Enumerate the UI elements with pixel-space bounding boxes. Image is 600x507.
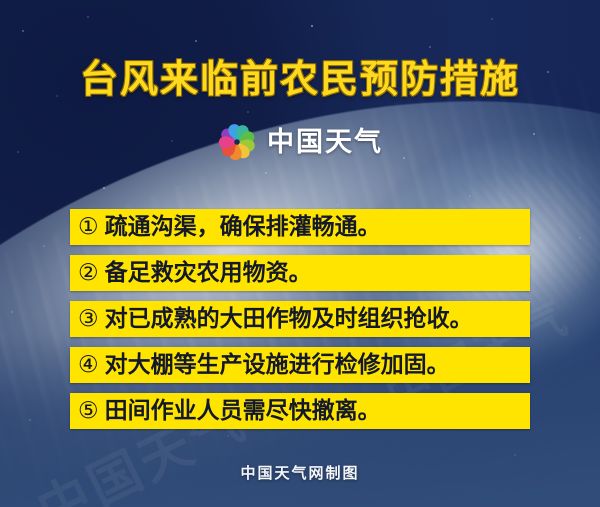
measures-list: ① 疏通沟渠，确保排灌畅通。 ② 备足救灾农用物资。 ③ 对已成熟的大田作物及时… [70, 209, 530, 439]
list-item: ③ 对已成熟的大田作物及时组织抢收。 [70, 301, 530, 337]
list-item-number: ② [78, 262, 99, 285]
page-title: 台风来临前农民预防措施 [0, 48, 600, 103]
list-item: ⑤ 田间作业人员需尽快撤离。 [70, 393, 530, 429]
list-item-label: 备足救灾农用物资。 [105, 262, 312, 285]
china-weather-pinwheel-logo-icon [217, 122, 257, 162]
list-item-label: 对大棚等生产设施进行检修加固。 [105, 354, 450, 377]
brand-name: 中国天气 [267, 129, 383, 156]
list-item: ① 疏通沟渠，确保排灌畅通。 [70, 209, 530, 245]
list-item-label: 对已成熟的大田作物及时组织抢收。 [105, 308, 473, 331]
list-item-label: 田间作业人员需尽快撤离。 [105, 400, 381, 423]
list-item-label: 疏通沟渠，确保排灌畅通。 [105, 216, 381, 239]
poster-content: 台风来临前农民预防措施 [0, 0, 600, 507]
list-item: ② 备足救灾农用物资。 [70, 255, 530, 291]
list-item-number: ① [78, 216, 99, 239]
list-item-number: ⑤ [78, 400, 99, 423]
credit-line: 中国天气网制图 [0, 462, 600, 483]
list-item: ④ 对大棚等生产设施进行检修加固。 [70, 347, 530, 383]
list-item-number: ④ [78, 354, 99, 377]
brand-lockup: 中国天气 [0, 122, 600, 162]
list-item-number: ③ [78, 308, 99, 331]
weather-infographic-poster: 中国天气 中国天气 台风来临前农民预防措施 [0, 0, 600, 507]
